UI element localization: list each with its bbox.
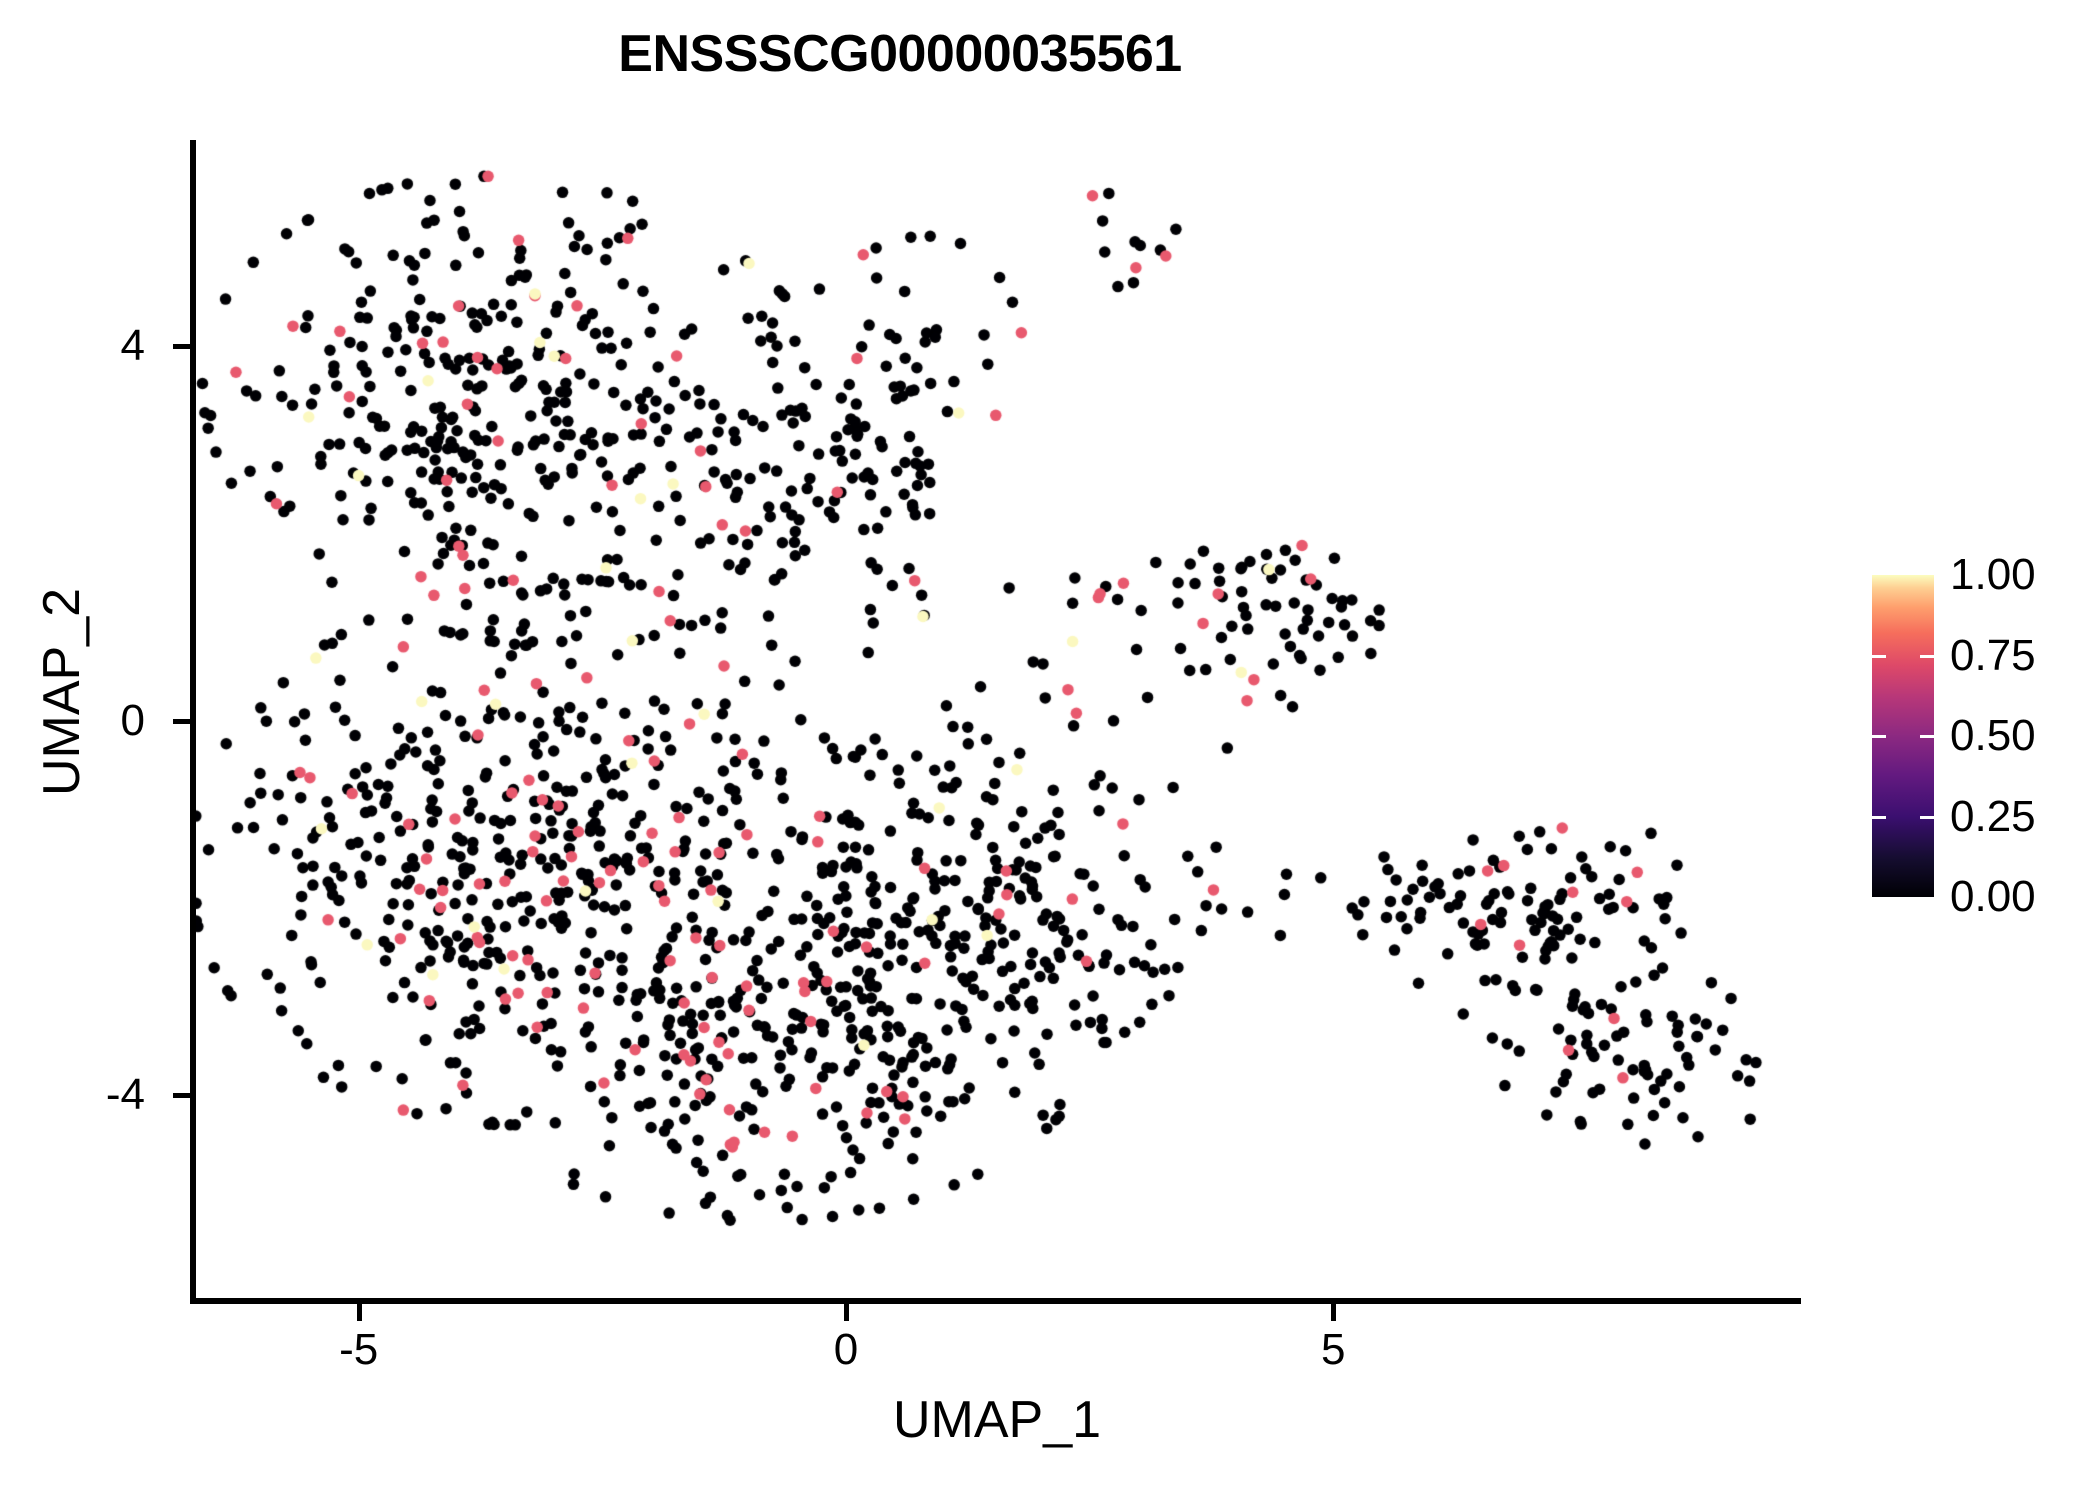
x-axis-title: UMAP_1 bbox=[193, 1390, 1801, 1450]
x-tick-mark bbox=[844, 1304, 849, 1321]
colorbar-tick-label: 1.00 bbox=[1950, 550, 2036, 600]
colorbar-tick-label: 0.75 bbox=[1950, 631, 2036, 681]
colorbar-tick-label: 0.50 bbox=[1950, 711, 2036, 761]
y-tick-mark bbox=[173, 1093, 190, 1098]
x-tick-mark bbox=[1331, 1304, 1336, 1321]
y-tick-label: 4 bbox=[121, 321, 145, 371]
page-title: ENSSSCG00000035561 bbox=[0, 24, 1800, 84]
scatter-point-layer bbox=[193, 140, 1801, 1301]
colorbar-tick-label: 0.00 bbox=[1950, 872, 2036, 922]
y-tick-mark bbox=[173, 344, 190, 349]
y-axis-title: UMAP_2 bbox=[32, 312, 92, 1072]
x-axis-line bbox=[190, 1298, 1801, 1304]
y-tick-label: 0 bbox=[121, 696, 145, 746]
y-axis-line bbox=[190, 140, 196, 1304]
x-tick-label: -5 bbox=[339, 1325, 378, 1375]
x-tick-label: 0 bbox=[834, 1325, 858, 1375]
x-tick-label: 5 bbox=[1321, 1325, 1345, 1375]
y-tick-mark bbox=[173, 719, 190, 724]
colorbar-tick-label: 0.25 bbox=[1950, 792, 2036, 842]
x-tick-mark bbox=[357, 1304, 362, 1321]
umap-feature-plot: ENSSSCG00000035561 -404 -505 UMAP_2 UMAP… bbox=[0, 0, 2100, 1500]
colorbar-gradient bbox=[1872, 575, 1934, 897]
plot-panel bbox=[193, 140, 1801, 1301]
y-tick-label: -4 bbox=[106, 1070, 145, 1120]
